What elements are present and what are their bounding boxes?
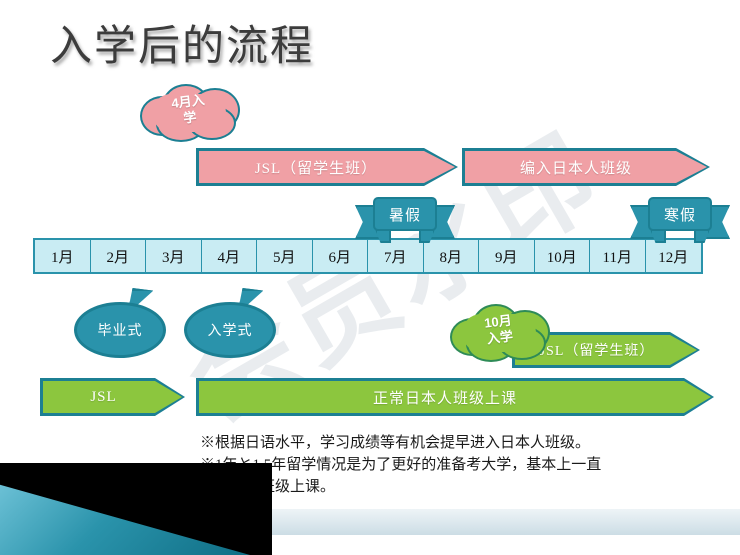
- month-cell-10: 10月: [535, 240, 591, 272]
- footnote-line-1: ※根据日语水平，学习成绩等有机会提早进入日本人班级。: [200, 432, 732, 454]
- bubble-entrance-ceremony-label: 入学式: [208, 320, 253, 340]
- arrow-normal-japanese-class-label: 正常日本人班级上课: [373, 387, 517, 408]
- bubble-graduation-ceremony: 毕业式: [74, 302, 166, 358]
- arrow-jsl-class-label: JSL（留学生班）: [255, 157, 377, 178]
- cloud-april-entry: 4月入 学: [134, 82, 242, 140]
- banner-summer-vacation: 暑假: [355, 197, 455, 245]
- month-cell-1: 1月: [35, 240, 91, 272]
- banner-winter-vacation-label: 寒假: [648, 197, 712, 231]
- arrow-japanese-class-enroll-label: 编入日本人班级: [520, 157, 632, 178]
- month-cell-5: 5月: [257, 240, 313, 272]
- banner-winter-vacation: 寒假: [630, 197, 730, 245]
- arrow-jsl-class-oct-label: JSL（留学生班）: [540, 340, 655, 360]
- footnote-line-3: 在日本人班级上课。: [200, 476, 732, 498]
- month-cell-3: 3月: [146, 240, 202, 272]
- month-cell-2: 2月: [91, 240, 147, 272]
- decor-band: [200, 509, 740, 535]
- bubble-entrance-ceremony: 入学式: [184, 302, 276, 358]
- month-cell-4: 4月: [202, 240, 258, 272]
- month-cell-9: 9月: [479, 240, 535, 272]
- bubble-graduation-ceremony-label: 毕业式: [98, 320, 143, 340]
- footnotes: ※根据日语水平，学习成绩等有机会提早进入日本人班级。※1年と1.5年留学情况是为…: [200, 432, 732, 498]
- cloud-october-entry: 10月 入学: [446, 302, 552, 360]
- arrow-normal-japanese-class: 正常日本人班级上课: [196, 378, 714, 416]
- arrow-jsl-short-label: JSL: [90, 389, 116, 406]
- arrow-jsl-class: JSL（留学生班）: [196, 148, 458, 186]
- footnote-line-2: ※1年と1.5年留学情况是为了更好的准备考大学，基本上一直: [200, 454, 732, 476]
- arrow-japanese-class-enroll: 编入日本人班级: [462, 148, 710, 186]
- slide-canvas: 会员水印 入学后的流程 4月入 学 JSL（留学生班） 编入日本人班级 暑假 寒…: [0, 0, 740, 555]
- banner-summer-vacation-label: 暑假: [373, 197, 437, 231]
- arrow-jsl-short: JSL: [40, 378, 185, 416]
- page-title: 入学后的流程: [50, 22, 314, 72]
